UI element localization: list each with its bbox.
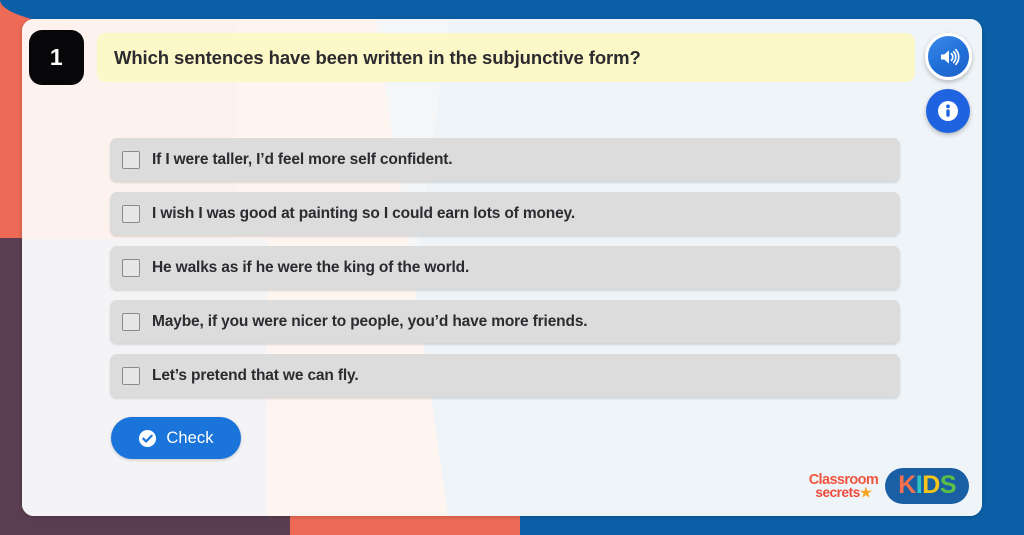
- kids-logo: KIDS: [885, 468, 969, 504]
- info-icon: [935, 98, 961, 124]
- classroom-secrets-logo: Classroom secrets★: [806, 471, 882, 502]
- kids-letter-k: K: [898, 471, 916, 499]
- audio-button[interactable]: [925, 33, 972, 80]
- question-number-text: 1: [50, 44, 63, 71]
- option-row[interactable]: He walks as if he were the king of the w…: [110, 246, 900, 289]
- option-row[interactable]: If I were taller, I’d feel more self con…: [110, 138, 900, 181]
- option-label: If I were taller, I’d feel more self con…: [152, 151, 452, 169]
- question-text: Which sentences have been written in the…: [114, 47, 641, 69]
- speaker-icon: [937, 45, 961, 69]
- brand-logos: Classroom secrets★ KIDS: [806, 468, 969, 504]
- secrets-word: secrets: [815, 485, 860, 500]
- bottom-strip-coral: [290, 516, 520, 535]
- star-icon: ★: [860, 485, 872, 500]
- question-card: 1 Which sentences have been written in t…: [22, 19, 982, 516]
- check-button-label: Check: [166, 429, 213, 448]
- option-label: Let’s pretend that we can fly.: [152, 367, 359, 385]
- card-content: 1 Which sentences have been written in t…: [22, 19, 982, 516]
- option-checkbox[interactable]: [122, 313, 140, 331]
- option-label: Maybe, if you were nicer to people, you’…: [152, 313, 587, 331]
- check-button[interactable]: Check: [111, 417, 241, 459]
- kids-letter-d: D: [922, 471, 940, 499]
- option-row[interactable]: Let’s pretend that we can fly.: [110, 354, 900, 397]
- bottom-strip-plum: [0, 516, 290, 535]
- check-circle-icon: [138, 429, 157, 448]
- option-label: He walks as if he were the king of the w…: [152, 259, 469, 277]
- options-list: If I were taller, I’d feel more self con…: [110, 138, 900, 408]
- option-row[interactable]: Maybe, if you were nicer to people, you’…: [110, 300, 900, 343]
- classroom-secrets-secrets-text: secrets★: [815, 486, 871, 500]
- option-checkbox[interactable]: [122, 151, 140, 169]
- bottom-strip-blue: [520, 516, 1024, 535]
- question-number-badge: 1: [29, 30, 84, 85]
- option-checkbox[interactable]: [122, 367, 140, 385]
- app-frame: 1 Which sentences have been written in t…: [0, 0, 1024, 535]
- option-label: I wish I was good at painting so I could…: [152, 205, 575, 223]
- option-checkbox[interactable]: [122, 205, 140, 223]
- option-checkbox[interactable]: [122, 259, 140, 277]
- kids-letter-s: S: [940, 471, 956, 499]
- info-button[interactable]: [926, 89, 970, 133]
- option-row[interactable]: I wish I was good at painting so I could…: [110, 192, 900, 235]
- question-banner: Which sentences have been written in the…: [97, 33, 915, 82]
